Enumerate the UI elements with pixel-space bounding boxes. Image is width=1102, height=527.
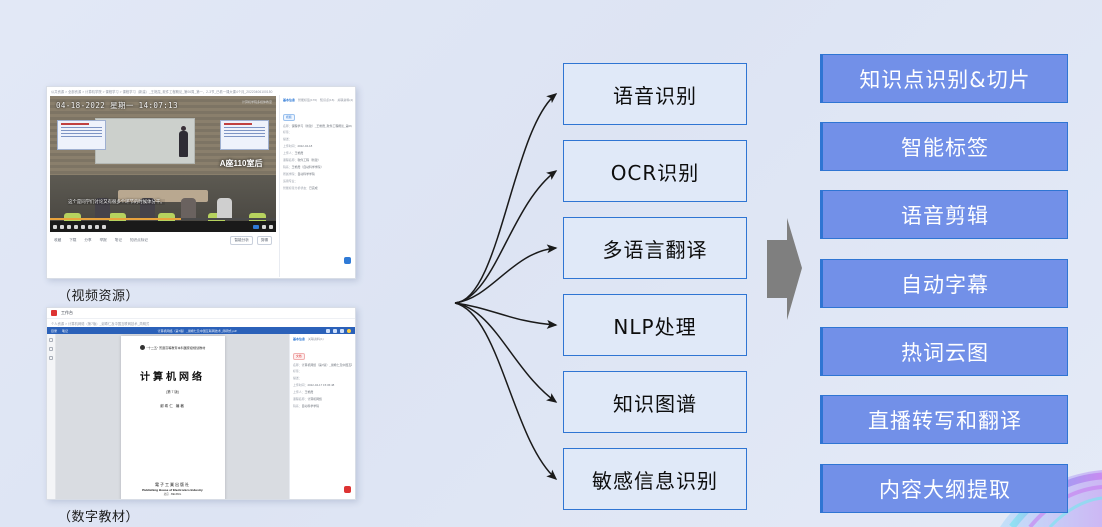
quality-icon[interactable] (253, 225, 259, 229)
book-edition: (第 7 版) (166, 389, 179, 394)
info-value: 自动科学学院 (302, 404, 319, 408)
info-label: 标签： (293, 369, 302, 373)
process-box-ocr[interactable]: OCR识别 (563, 140, 747, 202)
connector-to-box-3 (455, 248, 556, 303)
search-icon[interactable] (340, 329, 344, 333)
info-label: 院系： (283, 165, 292, 169)
info-label: 上传时间： (283, 144, 297, 148)
info-value: 计算机网络 (307, 397, 321, 401)
book-type-chip: 文档 (293, 353, 305, 360)
play-icon[interactable] (53, 225, 57, 229)
video-progress-bar[interactable] (50, 218, 276, 220)
record-icon[interactable] (95, 225, 99, 229)
help-badge-icon[interactable] (344, 257, 351, 264)
video-corner-text: 计算机学院多媒体教室 (242, 100, 272, 104)
info-row: 描述： (293, 376, 352, 380)
info-row: 课程名称：软件工程（新建） (283, 158, 352, 162)
book-source-caption: （数字教材） (58, 506, 139, 525)
gear-icon[interactable] (347, 329, 351, 333)
book-publisher-block: 電子工業出版社 Publishing House of Electronics … (142, 482, 203, 496)
info-row: 适用专业： (283, 179, 352, 183)
book-info-tabs[interactable]: 基本信息 关联资料(1) (293, 337, 352, 341)
tab-smart-tags[interactable]: 智能标签(176) (298, 98, 317, 102)
info-value: 已完成 (309, 186, 318, 190)
video-watermark: A座110室后 (220, 158, 263, 169)
video-action-note[interactable]: 笔记 (115, 238, 122, 243)
process-box-knowledge-graph[interactable]: 知识图谱 (563, 371, 747, 433)
next-icon[interactable] (74, 225, 78, 229)
series-text: "十二五" 普通高等教育本科国家级规划教材 (147, 345, 206, 350)
video-action-favorite[interactable]: 收藏 (54, 238, 61, 243)
help-badge-icon[interactable] (344, 486, 351, 493)
video-action-toolbar[interactable]: 收藏 下载 分享 举报 笔记 知识点标记 智能分析 剪辑 (50, 232, 276, 245)
stop-icon[interactable] (81, 225, 85, 229)
info-value: 自动科学学院 (297, 172, 314, 176)
book-title: 计算机网络 (140, 368, 205, 383)
book-page-stage[interactable]: "十二五" 普通高等教育本科国家级规划教材 计算机网络 (第 7 版) 谢希仁 … (47, 334, 355, 500)
tab-related-materials[interactable]: 关联资料(1) (308, 337, 324, 341)
info-value: 计算机网络（第7版）_谢希仁及中国互联网技术_简明式 (302, 363, 352, 367)
tab-related-materials[interactable]: 关联资料(4) (337, 98, 353, 102)
book-series-line: "十二五" 普通高等教育本科国家级规划教材 (140, 345, 206, 350)
output-box-live-transcription[interactable]: 直播转写和翻译 (820, 395, 1068, 444)
info-label: 所属学院： (283, 172, 297, 176)
prev-icon[interactable] (60, 225, 64, 229)
video-source-caption: （视频资源） (58, 285, 139, 304)
info-row: 标签： (293, 369, 352, 373)
info-row: 描述： (283, 137, 352, 141)
snapshot-icon[interactable] (88, 225, 92, 229)
info-label: 描述： (293, 376, 302, 380)
video-info-panel[interactable]: 基本信息 智能标签(176) 知识点(16) 关联资料(4) 视频 名称：课程学… (279, 95, 355, 277)
video-smart-analysis-button[interactable]: 智能分析 (230, 236, 252, 245)
info-value: 课程学习（新建）_王艳霞_软件工程概论_第06周_第一、2-3节_已看一课大课4… (292, 124, 352, 128)
book-info-panel[interactable]: 基本信息 关联资料(1) 文档 名称：计算机网络（第7版）_谢希仁及中国互联网技… (289, 334, 355, 500)
info-value: 王艳霞（自动科学学院） (292, 165, 324, 169)
digital-textbook-screenshot[interactable]: 工作台 个人资源 > 计算机网络（第7版）_谢希仁及中国互联网技术_简明式 目录… (46, 307, 356, 500)
series-seal-icon (140, 345, 145, 350)
chevron-right-arrow-icon (767, 218, 802, 320)
process-box-translation[interactable]: 多语言翻译 (563, 217, 747, 279)
info-label: 描述： (283, 137, 292, 141)
info-label: 智能标签分析状态： (283, 186, 309, 190)
process-box-speech-recognition[interactable]: 语音识别 (563, 63, 747, 125)
info-row: 上传人：王艳霞 (283, 151, 352, 155)
tab-knowledge-points[interactable]: 知识点(16) (320, 98, 334, 102)
info-row: 上传人：王艳霞 (293, 390, 352, 394)
info-label: 院系： (293, 404, 302, 408)
volume-icon[interactable] (262, 225, 266, 229)
output-box-smart-tags[interactable]: 智能标签 (820, 122, 1068, 171)
grid-view-icon[interactable] (326, 329, 330, 333)
video-edit-button[interactable]: 剪辑 (257, 236, 272, 245)
info-label: 课程名称： (283, 158, 297, 162)
info-row: 上传时间：2022-04-18 (283, 144, 352, 148)
video-timestamp-overlay: 04-18-2022 星期一 14:07:13 (56, 100, 178, 111)
info-label: 上传人： (293, 390, 305, 394)
output-box-hotword-cloud[interactable]: 热词云图 (820, 327, 1068, 376)
info-label: 课程名称： (293, 397, 307, 401)
info-row: 上传时间：2022-04-17 15:36:48 (293, 383, 352, 387)
info-label: 名称： (293, 363, 302, 367)
info-value: 2022-04-18 (297, 144, 312, 148)
book-app-header: 工作台 (47, 308, 355, 319)
video-progress-fill (50, 218, 181, 220)
info-label: 适用专业： (283, 179, 297, 183)
connector-to-box-5 (455, 303, 556, 402)
book-toolbar-icons[interactable] (326, 329, 351, 333)
crop-icon[interactable] (102, 225, 106, 229)
process-box-nlp[interactable]: NLP处理 (563, 294, 747, 356)
book-note-button[interactable]: 笔记 (62, 329, 68, 333)
connector-to-box-1 (455, 94, 556, 303)
book-app-title: 工作台 (61, 310, 73, 316)
info-row: 课程名称：计算机网络 (293, 397, 352, 401)
rail-search-icon[interactable] (49, 338, 53, 342)
info-row: 院系：王艳霞（自动科学学院） (283, 165, 352, 169)
slide-canvas: 公共资源 > 全部资源 > 计算机学院 > 课程学习 > 课程学习（新建）_王艳… (0, 0, 1102, 527)
rail-bookmark-icon[interactable] (49, 347, 53, 351)
video-player-pane[interactable]: 04-18-2022 星期一 14:07:13 计算机学院多媒体教室 这个是同学… (47, 95, 279, 277)
video-breadcrumb: 公共资源 > 全部资源 > 计算机学院 > 课程学习 > 课程学习（新建）_王艳… (47, 87, 355, 95)
video-subtitle: 这个是同学们讨论又有很多个环节的时候体分干。 (68, 199, 165, 205)
app-logo-icon (51, 310, 57, 316)
book-page-wrapper: "十二五" 普通高等教育本科国家级规划教材 计算机网络 (第 7 版) 谢希仁 … (56, 334, 289, 500)
info-label: 名称： (283, 124, 292, 128)
process-box-sensitive-info[interactable]: 敏感信息识别 (563, 448, 747, 510)
video-action-report[interactable]: 举报 (100, 238, 107, 243)
video-toolbar-right-group[interactable]: 智能分析 剪辑 (230, 236, 272, 245)
video-stage[interactable]: 04-18-2022 星期一 14:07:13 计算机学院多媒体教室 这个是同学… (50, 96, 276, 232)
publisher-city: 北京 · BEIJING (142, 492, 203, 496)
output-box-voice-editing[interactable]: 语音剪辑 (820, 190, 1068, 239)
info-row: 智能标签分析状态：已完成 (283, 186, 352, 190)
book-reader-toolbar[interactable]: 目录 笔记 计算机网络（第7版）_谢希仁及中国互联网技术_简明式.pdf (47, 327, 355, 334)
book-toc-button[interactable]: 目录 (51, 329, 57, 333)
info-value: 软件工程（新建） (297, 158, 320, 162)
book-side-rail[interactable] (47, 334, 56, 500)
book-author: 谢希仁 编著 (160, 404, 185, 409)
output-box-auto-subtitles[interactable]: 自动字幕 (820, 259, 1068, 308)
info-row: 院系：自动科学学院 (293, 404, 352, 408)
info-value: 2022-04-17 15:36:48 (307, 383, 334, 387)
video-action-share[interactable]: 分享 (84, 238, 91, 243)
info-label: 标签： (283, 130, 292, 134)
download-icon[interactable] (333, 329, 337, 333)
book-breadcrumb: 个人资源 > 计算机网络（第7版）_谢希仁及中国互联网技术_简明式 (47, 319, 355, 327)
output-box-knowledge-slicing[interactable]: 知识点识别&切片 (820, 54, 1068, 103)
rail-thumbnail-icon[interactable] (49, 356, 53, 360)
projection-screen-left (57, 120, 107, 150)
output-box-outline-extraction[interactable]: 内容大纲提取 (820, 464, 1068, 513)
info-value: 王艳霞 (295, 151, 304, 155)
info-row: 所属学院：自动科学学院 (283, 172, 352, 176)
connector-to-box-4 (455, 303, 556, 325)
tab-basic-info[interactable]: 基本信息 (293, 337, 305, 341)
video-control-bar[interactable] (50, 221, 276, 232)
video-type-chip: 视频 (283, 114, 295, 121)
book-doc-title: 计算机网络（第7版）_谢希仁及中国互联网技术_简明式.pdf (73, 329, 321, 333)
video-resource-screenshot[interactable]: 公共资源 > 全部资源 > 计算机学院 > 课程学习 > 课程学习（新建）_王艳… (46, 86, 356, 279)
lecturer-figure (179, 131, 188, 157)
video-action-download[interactable]: 下载 (69, 238, 76, 243)
tab-basic-info[interactable]: 基本信息 (283, 98, 295, 102)
info-value: 王艳霞 (305, 390, 314, 394)
video-action-knowledge-mark[interactable]: 知识点标记 (130, 238, 148, 243)
book-cover-page: "十二五" 普通高等教育本科国家级规划教材 计算机网络 (第 7 版) 谢希仁 … (121, 336, 225, 500)
connector-to-box-2 (455, 171, 556, 303)
student-figure (217, 198, 232, 218)
pause-icon[interactable] (67, 225, 71, 229)
video-shot-body: 04-18-2022 星期一 14:07:13 计算机学院多媒体教室 这个是同学… (47, 95, 355, 277)
projection-screen-right (220, 120, 270, 150)
info-label: 上传时间： (293, 383, 307, 387)
fullscreen-icon[interactable] (269, 225, 273, 229)
info-row: 标签： (283, 130, 352, 134)
info-label: 上传人： (283, 151, 295, 155)
info-row: 名称：课程学习（新建）_王艳霞_软件工程概论_第06周_第一、2-3节_已看一课… (283, 124, 352, 128)
student-figure (181, 198, 196, 218)
video-info-tabs[interactable]: 基本信息 智能标签(176) 知识点(16) 关联资料(4) (283, 98, 352, 102)
info-row: 名称：计算机网络（第7版）_谢希仁及中国互联网技术_简明式 (293, 363, 352, 367)
connector-to-box-6 (455, 303, 556, 479)
